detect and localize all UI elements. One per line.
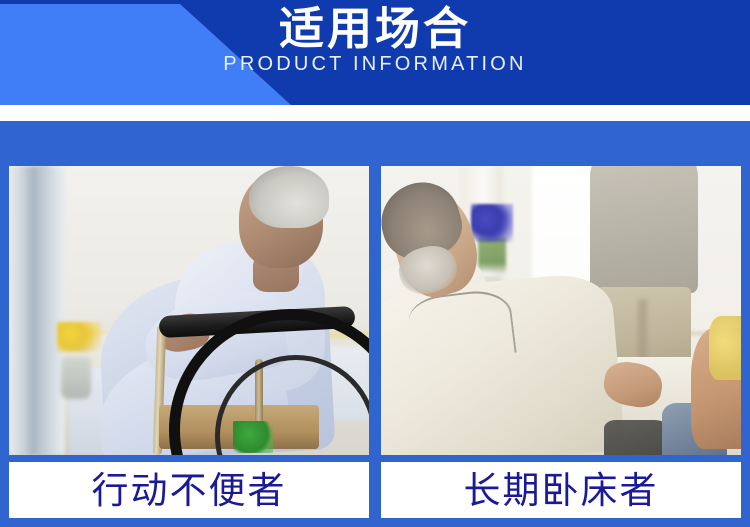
photo-caregiver-shirt [709, 316, 741, 380]
photo-purple-flowers [471, 204, 513, 242]
scenario-caption-box: 行动不便者 [9, 462, 369, 518]
header-body-divider [0, 105, 750, 121]
scenario-panel-group: 行动不便者 [9, 166, 741, 518]
photo-visitor-torso [590, 166, 698, 293]
photo-green-plant [233, 421, 273, 453]
scenario-panel: 行动不便者 [9, 166, 369, 518]
photo-curtain-fold [39, 166, 65, 455]
header-text-block: 适用场合 PRODUCT INFORMATION [0, 0, 750, 105]
photo-yellow-flowers [57, 322, 101, 352]
photo-dark-chair [604, 420, 669, 455]
scenario-caption-label: 长期卧床者 [464, 472, 659, 509]
photo-flower-stems [478, 238, 506, 274]
banner-subtitle: PRODUCT INFORMATION [223, 54, 526, 74]
bedridden-photo [381, 166, 741, 455]
banner-title: 适用场合 [279, 2, 471, 55]
scenario-caption-box: 长期卧床者 [381, 462, 741, 518]
product-information-banner: 适用场合 PRODUCT INFORMATION [0, 0, 750, 527]
photo-vase [61, 357, 91, 399]
wheelchair-photo [9, 166, 369, 455]
scenario-panel: 长期卧床者 [381, 166, 741, 518]
photo-patient-hair [249, 166, 329, 228]
scenario-caption-label: 行动不便者 [92, 472, 287, 509]
banner-header: 适用场合 PRODUCT INFORMATION [0, 0, 750, 105]
